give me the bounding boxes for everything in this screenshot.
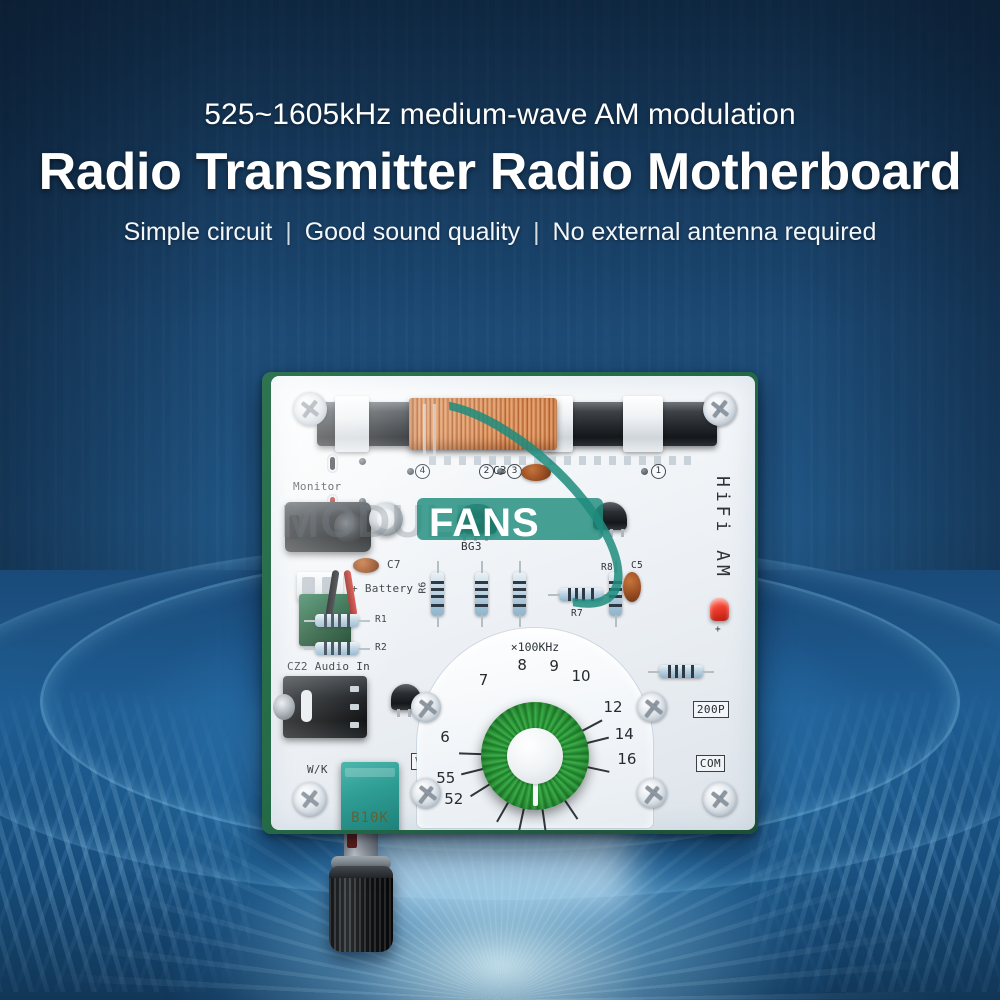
- label-wk: W/K: [307, 763, 328, 776]
- coil-band-1: [423, 404, 426, 456]
- capacitor-c3: [521, 464, 551, 481]
- screw-bottom-right: [703, 782, 737, 816]
- label-r8: R8: [601, 562, 613, 573]
- dial-number-9: 9: [549, 657, 559, 675]
- screw-dial-bottom-right: [637, 778, 667, 808]
- coil-band-2: [433, 404, 436, 456]
- coil-tap-1: 1: [651, 464, 666, 479]
- resistor-r6: [431, 572, 444, 616]
- coil-tap-2: 2: [479, 464, 494, 479]
- brand-mark-hifi-am: HiFi AM: [712, 476, 733, 580]
- dial-number-55: 55: [436, 769, 455, 787]
- feature-item-1: Simple circuit: [124, 218, 273, 246]
- tuning-knob-pointer: [533, 782, 538, 806]
- dial-number-10: 10: [571, 667, 590, 685]
- screw-mid-left: [411, 692, 441, 722]
- test-pad-1: [359, 458, 366, 465]
- feature-item-3: No external antenna required: [553, 218, 877, 246]
- screw-bottom-left: [293, 782, 327, 816]
- dial-number-14: 14: [615, 725, 634, 743]
- label-c7: C7: [387, 558, 401, 571]
- screw-top-right: [703, 392, 737, 426]
- coil-tap-4: 4: [415, 464, 430, 479]
- tuning-knob[interactable]: [481, 702, 589, 810]
- antenna-coil-winding: [409, 398, 557, 450]
- feature-separator-1: |: [285, 218, 292, 246]
- resistor-r2: [315, 642, 359, 655]
- ferrite-rod-antenna: [317, 392, 717, 454]
- dial-number-6: 6: [440, 728, 450, 746]
- label-bg3: BG3: [461, 540, 482, 553]
- label-r7: R7: [571, 608, 583, 619]
- resistor-r8: [609, 572, 622, 616]
- headings-block: 525~1605kHz medium-wave AM modulation Ra…: [0, 98, 1000, 247]
- potentiometer-label: B10K: [341, 810, 399, 826]
- label-com-box: COM: [696, 755, 725, 772]
- feature-separator-2: |: [533, 218, 540, 246]
- label-r2: R2: [375, 642, 387, 653]
- resistor-mid-1: [475, 572, 488, 616]
- audio-input-jack[interactable]: [283, 676, 367, 738]
- dial-number-8: 8: [517, 656, 527, 674]
- label-battery: + Battery: [351, 582, 413, 595]
- page-title: Radio Transmitter Radio Motherboard: [0, 142, 1000, 202]
- label-led-polarity: +: [715, 624, 721, 635]
- watermark-pill: FANS: [417, 498, 603, 540]
- label-r1: R1: [375, 614, 387, 625]
- dial-number-7: 7: [479, 671, 489, 689]
- radio-transmitter-board: Monitor G CZ1 DC6V 4 2 3 1 C7 C3 BG3 + B…: [262, 372, 758, 834]
- power-led: [710, 598, 729, 621]
- screw-mid-bottom-left: [411, 778, 441, 808]
- tuning-dial-plate: ×100KHz 5255678910121416 AMT-MW207: [417, 628, 653, 828]
- capacitor-c5: [623, 572, 641, 602]
- knob-body[interactable]: [329, 866, 393, 952]
- screw-top-left: [293, 392, 327, 426]
- dial-number-52: 52: [444, 790, 463, 808]
- ferrite-wrap-left: [335, 396, 369, 452]
- resistor-mid-2: [513, 572, 526, 616]
- label-200p-box: 200P: [693, 701, 729, 718]
- tap-pad-4: [407, 468, 414, 475]
- tap-pad-1: [641, 468, 648, 475]
- monitor-hole: [327, 454, 338, 473]
- resistor-r7: [559, 588, 603, 601]
- resistor-bottom-right: [659, 665, 703, 678]
- volume-knob-assembly[interactable]: [318, 838, 404, 948]
- transistor-bg3: [457, 504, 497, 534]
- label-c3: C3: [493, 464, 507, 477]
- feature-list: Simple circuit | Good sound quality | No…: [0, 218, 1000, 247]
- potentiometer-b10k[interactable]: B10K: [341, 762, 399, 830]
- dial-number-12: 12: [603, 698, 622, 716]
- label-r6: R6: [418, 581, 429, 593]
- label-c5: C5: [631, 560, 643, 571]
- transistor-bg2: [593, 502, 627, 530]
- dial-unit-label: ×100KHz: [511, 640, 559, 654]
- resistor-r1: [315, 614, 359, 627]
- coil-tap-3: 3: [507, 464, 522, 479]
- pcb-silkscreen-panel: Monitor G CZ1 DC6V 4 2 3 1 C7 C3 BG3 + B…: [271, 376, 755, 830]
- capacitor-c7: [353, 558, 379, 573]
- subtitle: 525~1605kHz medium-wave AM modulation: [0, 98, 1000, 132]
- dial-number-16: 16: [617, 750, 636, 768]
- dc-power-jack[interactable]: [285, 502, 371, 552]
- screw-dial-right: [637, 692, 667, 722]
- label-monitor: Monitor: [293, 480, 341, 493]
- ferrite-wrap-right: [623, 396, 663, 452]
- capacitor-c6: [369, 502, 403, 536]
- feature-item-2: Good sound quality: [305, 218, 520, 246]
- label-cz2-audio-in: CZ2 Audio In: [287, 660, 370, 673]
